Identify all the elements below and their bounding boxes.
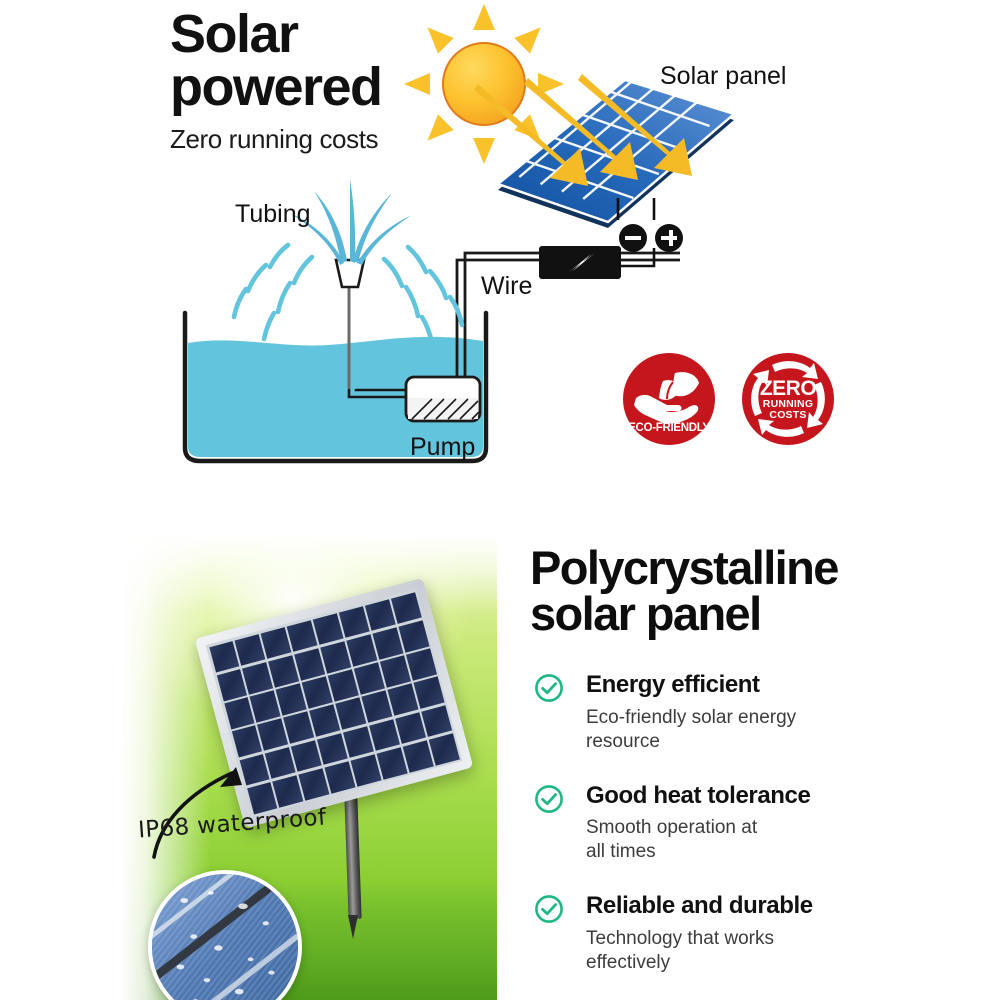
badge-zero-text: ZERO RUNNING COSTS (742, 379, 834, 421)
feature-title: Energy efficient (586, 672, 980, 698)
badge-zero-running-costs: ZERO RUNNING COSTS (742, 353, 834, 445)
pump-label: Pump (410, 433, 475, 462)
check-circle-icon (534, 673, 564, 703)
feature-desc-line-2: effectively (586, 951, 980, 975)
product-photo: IP68 waterproof (120, 533, 497, 1000)
feature-item: Good heat tolerance Smooth operation at … (530, 783, 980, 865)
feature-desc-line-1: Eco-friendly solar energy (586, 706, 980, 730)
terminal-wires (598, 196, 698, 286)
polycrystalline-panel-section: IP68 waterproof (0, 500, 1000, 1000)
features-column: Polycrystalline solar panel Energy effic… (530, 545, 980, 1004)
section-title-line-2: solar panel (530, 591, 980, 637)
feature-desc-line-1: Technology that works (586, 927, 980, 951)
badge-zero-line-1: ZERO (742, 379, 834, 399)
section-title-line-1: Polycrystalline (530, 545, 980, 591)
feature-desc-line-1: Smooth operation at (586, 816, 980, 840)
check-circle-icon (534, 784, 564, 814)
feature-desc-line-2: resource (586, 730, 980, 754)
feature-description: Eco-friendly solar energy resource (586, 706, 980, 754)
feature-list: Energy efficient Eco-friendly solar ener… (530, 672, 980, 975)
feature-description: Smooth operation at all times (586, 816, 980, 864)
feature-description: Technology that works effectively (586, 927, 980, 975)
feature-title: Reliable and durable (586, 893, 980, 919)
badge-eco-friendly: ECO-FRIENDLY (623, 353, 715, 445)
feature-item: Energy efficient Eco-friendly solar ener… (530, 672, 980, 754)
feature-item: Reliable and durable Technology that wor… (530, 893, 980, 975)
section-title: Polycrystalline solar panel (530, 545, 980, 636)
solar-powered-section: Solar powered Zero running costs (0, 0, 1000, 500)
badge-eco-caption: ECO-FRIENDLY (623, 422, 715, 434)
feature-title: Good heat tolerance (586, 783, 980, 809)
wire-label: Wire (481, 272, 532, 301)
tubing-label: Tubing (235, 200, 311, 229)
badge-zero-line-3: COSTS (742, 410, 834, 421)
check-circle-icon (534, 894, 564, 924)
feature-desc-line-2: all times (586, 840, 980, 864)
panel-ground-stake (348, 915, 358, 939)
